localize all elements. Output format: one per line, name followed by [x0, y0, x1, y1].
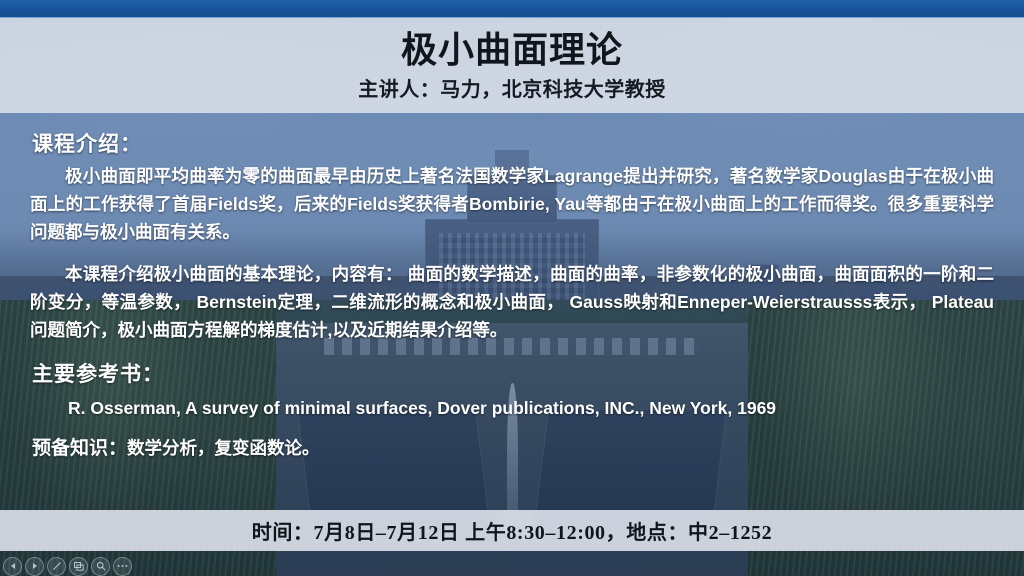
presentation-slide: 极小曲面理论 主讲人：马力，北京科技大学教授 课程介绍： 极小曲面即平均曲率为零… — [0, 0, 1024, 576]
course-intro-paragraph-1: 极小曲面即平均曲率为零的曲面最早由历史上著名法国数学家Lagrange提出并研究… — [30, 162, 994, 246]
course-intro-paragraph-2: 本课程介绍极小曲面的基本理论，内容有： 曲面的数学描述，曲面的曲率，非参数化的极… — [30, 260, 994, 344]
triangle-left-icon — [9, 562, 17, 570]
slides-grid-icon — [74, 562, 84, 571]
schedule-text: 时间：7月8日–7月12日 上午8:30–12:00，地点：中2–1252 — [252, 516, 773, 545]
prerequisites-label: 预备知识： — [32, 438, 127, 459]
prerequisites-body: 数学分析，复变函数论。 — [127, 438, 320, 458]
top-accent-bar — [0, 0, 1024, 18]
pen-icon — [52, 561, 62, 571]
slide-body: 课程介绍： 极小曲面即平均曲率为零的曲面最早由历史上著名法国数学家Lagrang… — [0, 118, 1024, 506]
page-title: 极小曲面理论 — [401, 31, 623, 70]
all-slides-button[interactable] — [69, 557, 88, 576]
title-panel: 极小曲面理论 主讲人：马力，北京科技大学教授 — [0, 18, 1024, 113]
schedule-banner: 时间：7月8日–7月12日 上午8:30–12:00，地点：中2–1252 — [0, 510, 1024, 551]
references-heading: 主要参考书： — [32, 358, 994, 388]
ellipsis-icon — [117, 564, 128, 568]
triangle-right-icon — [31, 562, 39, 570]
previous-slide-button[interactable] — [3, 557, 22, 576]
prerequisites-line: 预备知识：数学分析，复变函数论。 — [32, 433, 994, 460]
more-options-button[interactable] — [113, 557, 132, 576]
next-slide-button[interactable] — [25, 557, 44, 576]
pen-tool-button[interactable] — [47, 557, 66, 576]
magnifier-icon — [96, 561, 106, 571]
presenter-toolbar[interactable] — [0, 556, 132, 576]
zoom-button[interactable] — [91, 557, 110, 576]
reference-item: R. Osserman, A survey of minimal surface… — [68, 398, 994, 419]
presenter-subtitle: 主讲人：马力，北京科技大学教授 — [358, 73, 666, 102]
course-intro-heading: 课程介绍： — [32, 128, 994, 158]
